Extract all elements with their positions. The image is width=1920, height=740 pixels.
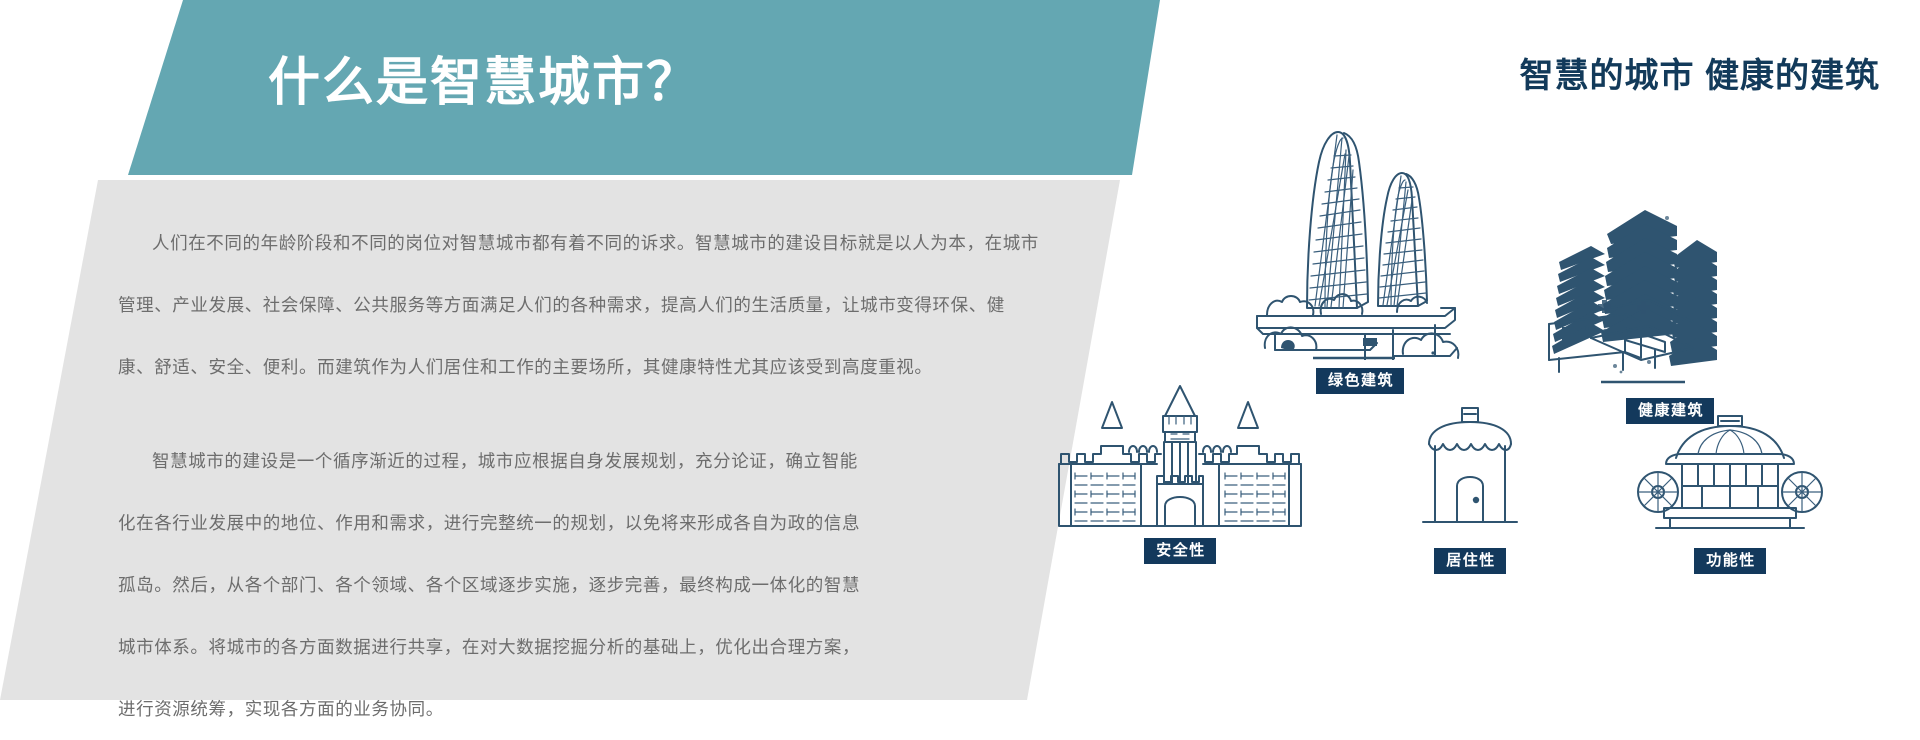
paragraph-1-line-2: 管理、产业发展、社会保障、公共服务等方面满足人们的各种需求，提高人们的生活质量，…: [118, 274, 1028, 336]
pavilion-icon: [1630, 410, 1830, 540]
paragraph-1: 人们在不同的年龄阶段和不同的岗位对智慧城市都有着不同的诉求。智慧城市的建设目标就…: [118, 212, 1028, 398]
badge-wrap-safety: 安全性: [1020, 538, 1340, 564]
hospital-complex-icon: [1545, 200, 1795, 390]
badge-wrap-livability: 居住性: [1360, 548, 1580, 574]
label-functionality: 功能性: [1694, 548, 1766, 574]
label-safety: 安全性: [1144, 538, 1216, 564]
paragraph-1-line-1: 人们在不同的年龄阶段和不同的岗位对智慧城市都有着不同的诉求。智慧城市的建设目标就…: [118, 212, 1028, 274]
paragraph-2-line-1: 智慧城市的建设是一个循序渐近的过程，城市应根据自身发展规划，充分论证，确立智能: [118, 430, 1028, 492]
poster-canvas: 什么是智慧城市？ 智慧的城市 健康的建筑 人们在不同的年龄阶段和不同的岗位对智慧…: [0, 0, 1920, 700]
paragraph-1-line-3: 康、舒适、安全、便利。而建筑作为人们居住和工作的主要场所，其健康特性尤其应该受到…: [118, 336, 1028, 398]
paragraph-2-line-5: 进行资源统筹，实现各方面的业务协同。: [118, 678, 1028, 740]
illustration-safety: 安全性: [1020, 380, 1340, 564]
illustration-livability: 居住性: [1360, 400, 1580, 574]
castle-icon: [1045, 380, 1315, 530]
paragraph-2-line-3: 孤岛。然后，从各个部门、各个领域、各个区域逐步实施，逐步完善，最终构成一体化的智…: [118, 554, 1028, 616]
paragraph-spacer: [118, 398, 1028, 430]
header-tagline: 智慧的城市 健康的建筑: [1520, 48, 1880, 97]
paragraph-2-line-2: 化在各行业发展中的地位、作用和需求，进行完整统一的规划，以免将来形成各自为政的信…: [118, 492, 1028, 554]
body-text-block: 人们在不同的年龄阶段和不同的岗位对智慧城市都有着不同的诉求。智慧城市的建设目标就…: [118, 212, 1028, 740]
paragraph-2: 智慧城市的建设是一个循序渐近的过程，城市应根据自身发展规划，充分论证，确立智能 …: [118, 430, 1028, 740]
illustration-green-building: 绿色建筑: [1220, 110, 1500, 394]
illustration-area: 绿色建筑: [1040, 110, 1920, 670]
illustration-functionality: 功能性: [1600, 410, 1860, 574]
twin-towers-icon: [1245, 110, 1475, 360]
paragraph-2-line-4: 城市体系。将城市的各方面数据进行共享，在对大数据挖掘分析的基础上，优化出合理方案…: [118, 616, 1028, 678]
badge-wrap-functionality: 功能性: [1600, 548, 1860, 574]
house-awning-icon: [1405, 400, 1535, 540]
label-livability: 居住性: [1434, 548, 1506, 574]
illustration-health-building: 健康建筑: [1520, 200, 1820, 424]
page-title: 什么是智慧城市？: [268, 40, 700, 115]
